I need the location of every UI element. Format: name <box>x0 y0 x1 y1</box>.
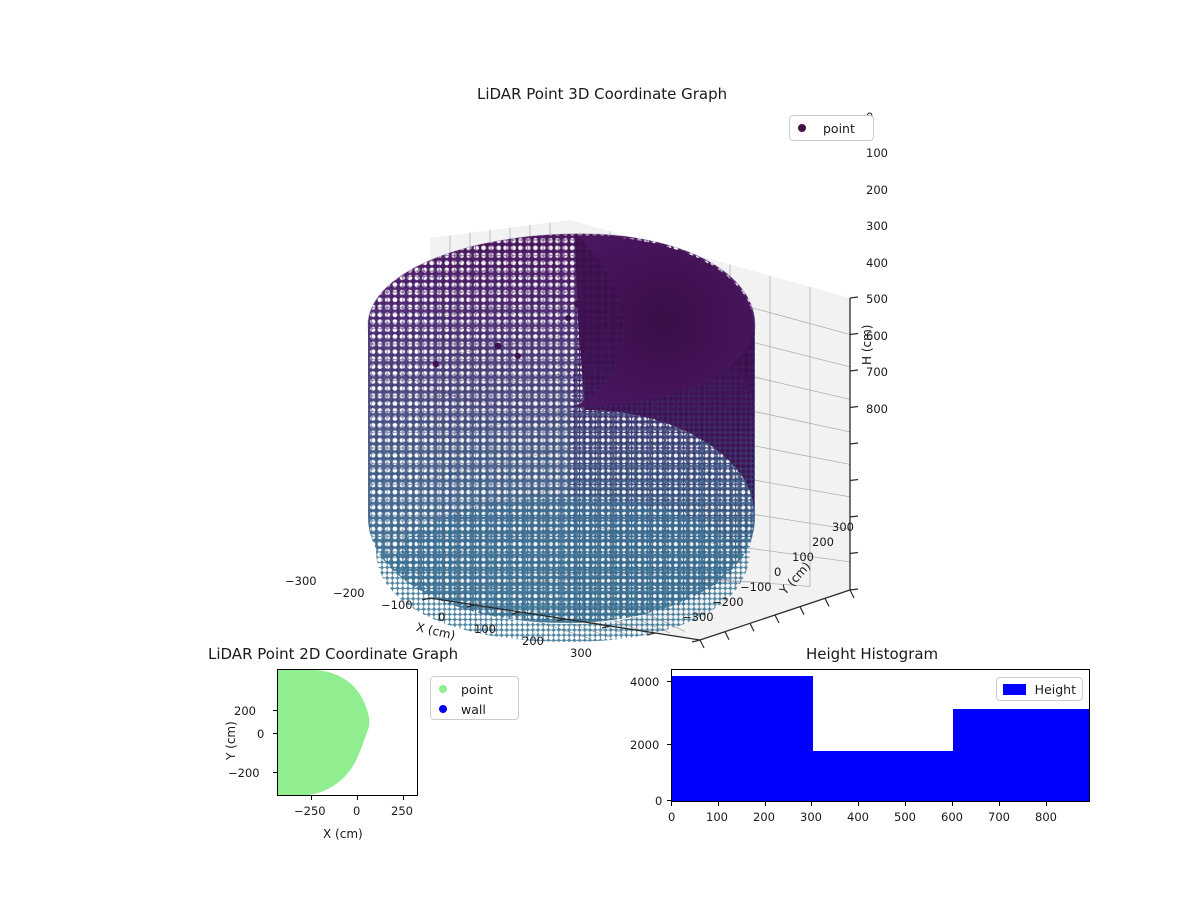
tick-2d-y-2: −200 <box>228 766 260 780</box>
tick-hist-x-5: 500 <box>894 810 916 824</box>
legend-2d-label-wall: wall <box>461 702 486 717</box>
tick-3d-y-0: −300 <box>682 610 714 624</box>
tick-hist-y-1: 2000 <box>630 738 659 752</box>
point-cloud-3d <box>360 220 770 642</box>
tick-hist-x-mark-2 <box>765 802 766 806</box>
tick-3d-x-0: −300 <box>285 574 317 588</box>
tick-hist-x-mark-1 <box>718 802 719 806</box>
tick-3d-h-2: 200 <box>866 183 888 197</box>
hist-bar-0[interactable] <box>672 676 813 801</box>
tick-2d-x-mark-1 <box>357 796 358 800</box>
tick-3d-h-4: 400 <box>866 256 888 270</box>
legend-2d-entry-point[interactable]: point <box>439 679 510 699</box>
tick-3d-y-2: −100 <box>740 580 772 594</box>
tick-hist-x-mark-6 <box>952 802 953 806</box>
tick-3d-x-1: −200 <box>333 586 365 600</box>
tick-3d-h-3: 300 <box>866 219 888 233</box>
legend-2d[interactable]: point wall <box>430 676 519 720</box>
tick-hist-x-2: 200 <box>753 810 775 824</box>
axis-3d-h-label: H (cm) <box>860 325 874 366</box>
tick-hist-x-0: 0 <box>668 810 675 824</box>
tick-3d-h-5: 500 <box>866 292 888 306</box>
tick-3d-x-6: 300 <box>570 646 592 660</box>
tick-2d-x-mark-0 <box>311 796 312 800</box>
tick-3d-x-2: −100 <box>381 598 413 612</box>
tick-hist-y-2: 4000 <box>630 675 659 689</box>
tick-3d-y-5: 200 <box>812 535 834 549</box>
legend-hist-label-height: Height <box>1035 682 1076 697</box>
tick-hist-x-4: 400 <box>847 810 869 824</box>
tick-3d-h-7: 700 <box>866 365 888 379</box>
legend-3d-entry-point[interactable]: point <box>798 118 865 138</box>
tick-2d-x-1: 0 <box>353 804 360 818</box>
tick-3d-h-1: 100 <box>866 146 888 160</box>
tick-hist-y-mark-1 <box>667 744 671 745</box>
tick-hist-y-0: 0 <box>655 794 662 808</box>
tick-hist-x-mark-8 <box>1046 802 1047 806</box>
legend-2d-entry-wall[interactable]: wall <box>439 699 510 719</box>
tick-hist-x-6: 600 <box>941 810 963 824</box>
panel-3d-title: LiDAR Point 3D Coordinate Graph <box>477 85 727 103</box>
tick-3d-x-5: 200 <box>522 634 544 648</box>
tick-hist-x-mark-3 <box>811 802 812 806</box>
tick-3d-x-3: 0 <box>438 610 445 624</box>
panel-hist-title: Height Histogram <box>806 645 938 663</box>
axis-2d-x-label: X (cm) <box>323 827 363 841</box>
tick-2d-x-mark-2 <box>403 796 404 800</box>
tick-hist-x-mark-0 <box>671 802 672 806</box>
matplotlib-figure: LiDAR Point 3D Coordinate Graph <box>0 0 1200 900</box>
tick-hist-x-mark-5 <box>905 802 906 806</box>
tick-hist-x-mark-7 <box>999 802 1000 806</box>
tick-hist-y-mark-2 <box>667 681 671 682</box>
legend-3d-label-point: point <box>823 121 855 136</box>
legend-hist-entry-height[interactable]: Height <box>1003 679 1076 699</box>
scatter-2d-canvas <box>278 670 417 795</box>
tick-2d-x-0: −250 <box>294 804 326 818</box>
axis-2d-y-label: Y (cm) <box>224 721 238 760</box>
tick-2d-y-mark-0 <box>273 710 277 711</box>
legend-point-marker-icon <box>798 124 806 132</box>
tick-hist-x-7: 700 <box>988 810 1010 824</box>
tick-hist-x-8: 800 <box>1035 810 1057 824</box>
tick-3d-h-8: 800 <box>866 402 888 416</box>
tick-2d-y-0: 200 <box>234 704 256 718</box>
hist-bar-2[interactable] <box>953 709 1089 802</box>
axes-2d-scatter[interactable] <box>277 669 418 796</box>
point-cloud-2d <box>278 670 369 795</box>
legend-histogram[interactable]: Height <box>996 677 1083 701</box>
tick-2d-y-1: 0 <box>257 727 264 741</box>
legend-point-marker-icon <box>439 685 447 693</box>
tick-2d-x-2: 250 <box>391 804 413 818</box>
tick-2d-y-mark-1 <box>273 733 277 734</box>
hist-bar-1[interactable] <box>813 751 954 801</box>
tick-3d-y-3: 0 <box>774 565 781 579</box>
tick-3d-y-6: 300 <box>832 520 854 534</box>
tick-hist-x-1: 100 <box>706 810 728 824</box>
legend-height-swatch-icon <box>1003 684 1026 695</box>
tick-3d-y-1: −200 <box>712 595 744 609</box>
legend-wall-marker-icon <box>439 705 447 713</box>
axes-3d[interactable]: −300 −200 −100 0 100 200 300 X (cm) −300… <box>330 110 890 655</box>
tick-hist-x-3: 300 <box>800 810 822 824</box>
tick-2d-y-mark-2 <box>273 772 277 773</box>
legend-2d-label-point: point <box>461 682 493 697</box>
axis-3d-h-ticks <box>850 297 858 590</box>
tick-hist-x-mark-4 <box>858 802 859 806</box>
tick-hist-y-mark-0 <box>667 800 671 801</box>
legend-3d[interactable]: point <box>789 115 874 141</box>
panel-2d-title: LiDAR Point 2D Coordinate Graph <box>208 645 458 663</box>
tick-3d-x-4: 100 <box>474 622 496 636</box>
